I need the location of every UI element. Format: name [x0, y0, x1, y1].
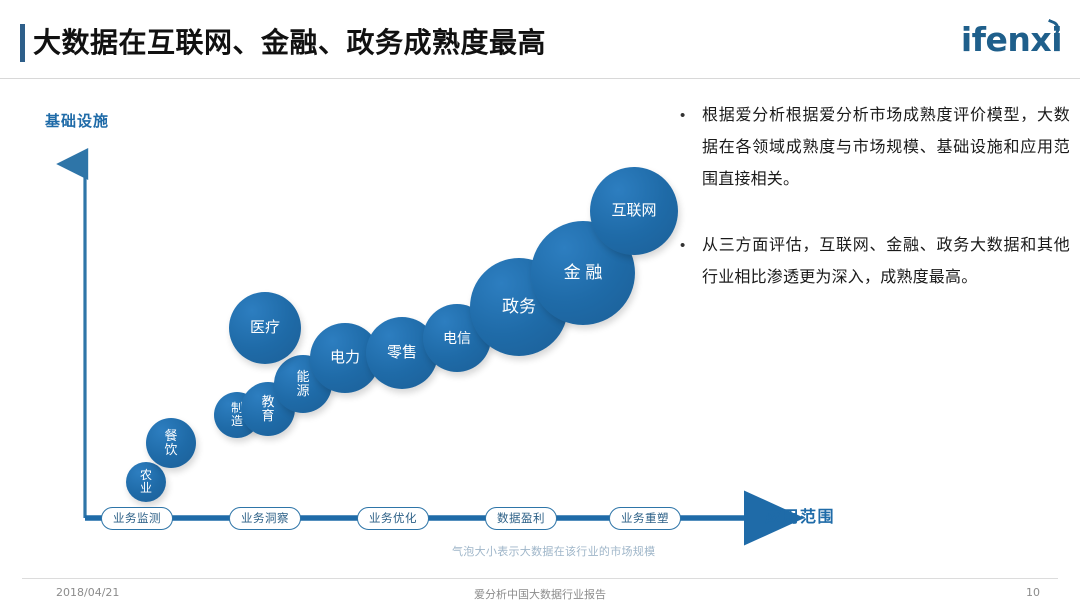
bubble-label: 教育	[257, 395, 280, 422]
bubble-label: 电信	[439, 331, 475, 346]
bubble-5: 医疗	[229, 292, 301, 364]
bullet-marker-icon: •	[680, 100, 702, 196]
bullet-text: 从三方面评估，互联网、金融、政务大数据和其他行业相比渗透更为深入，成熟度最高。	[702, 230, 1070, 294]
bubble-label: 政务	[498, 298, 540, 316]
chart-note: 气泡大小表示大数据在该行业的市场规模	[452, 543, 655, 559]
x-axis-stage-2[interactable]: 业务优化	[357, 507, 429, 530]
bubble-label: 电力	[326, 350, 364, 366]
slide: 大数据在互联网、金融、政务成熟度最高 ifenxi 基础设施 气泡大小表示大数据…	[0, 0, 1080, 608]
brand-logo: ifenxi	[961, 20, 1062, 59]
insight-text-panel: • 根据爱分析根据爱分析市场成熟度评价模型，大数据在各领域成熟度与市场规模、基础…	[680, 100, 1070, 328]
footer-divider	[22, 578, 1058, 579]
page-title: 大数据在互联网、金融、政务成熟度最高	[33, 21, 546, 61]
y-axis-label: 基础设施	[45, 110, 109, 131]
bubble-label: 农业	[135, 469, 157, 494]
x-axis-stage-4[interactable]: 业务重塑	[609, 507, 681, 530]
bullet-item: • 从三方面评估，互联网、金融、政务大数据和其他行业相比渗透更为深入，成熟度最高…	[680, 230, 1070, 294]
footer-report-name: 爱分析中国大数据行业报告	[0, 586, 1080, 602]
bubble-1: 餐饮	[146, 418, 196, 468]
bubble-0: 农业	[126, 462, 166, 502]
bubble-label: 医疗	[246, 320, 284, 336]
bullet-item: • 根据爱分析根据爱分析市场成熟度评价模型，大数据在各领域成熟度与市场规模、基础…	[680, 100, 1070, 196]
footer-page-number: 10	[1026, 586, 1040, 599]
slide-header: 大数据在互联网、金融、政务成熟度最高 ifenxi	[0, 0, 1080, 78]
x-axis-stage-1[interactable]: 业务洞察	[229, 507, 301, 530]
bubble-label: 零售	[383, 345, 421, 361]
bubble-label: 餐饮	[160, 429, 183, 456]
bubble-label: 金 融	[560, 264, 607, 282]
x-axis-stage-0[interactable]: 业务监测	[101, 507, 173, 530]
bullet-marker-icon: •	[680, 230, 702, 294]
bubble-label: 互联网	[607, 203, 660, 219]
bubble-11: 互联网	[590, 167, 678, 255]
x-axis-label: 应用范围	[765, 503, 835, 527]
x-axis-stage-3[interactable]: 数据盈利	[485, 507, 557, 530]
bubble-chart: 基础设施 气泡大小表示大数据在该行业的市场规模 数据来源：爱分析 农业餐饮制造教…	[0, 78, 680, 575]
bullet-text: 根据爱分析根据爱分析市场成熟度评价模型，大数据在各领域成熟度与市场规模、基础设施…	[702, 100, 1070, 196]
bubble-label: 能源	[292, 370, 315, 397]
title-accent-bar	[20, 24, 25, 62]
